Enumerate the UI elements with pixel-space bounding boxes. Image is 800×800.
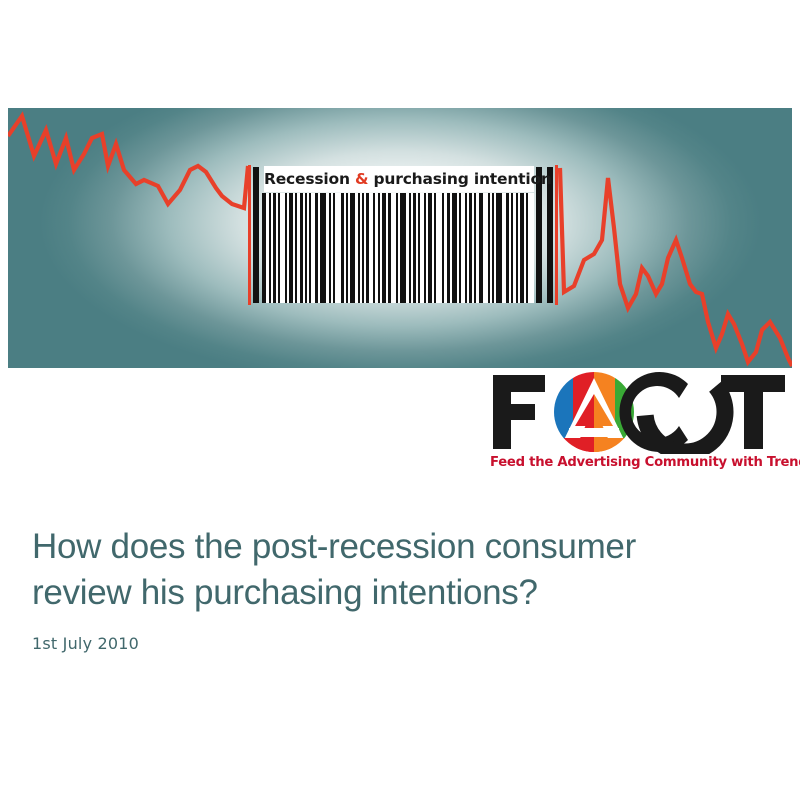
barcode-bar: [341, 193, 344, 303]
barcode-bar: [350, 193, 355, 303]
barcode-graphic: Recession & purchasing intention: [248, 165, 560, 305]
barcode-bar: [285, 193, 287, 303]
barcode-left-red-guard: [248, 165, 251, 305]
barcode-bar: [333, 193, 335, 303]
barcode-bar: [479, 193, 483, 303]
logo-letter-f: [493, 375, 545, 449]
barcode-bar: [418, 193, 420, 303]
page-title-line-2: review his purchasing intentions?: [32, 573, 538, 612]
page-title: How does the post-recession consumerrevi…: [32, 524, 762, 616]
barcode-title-prefix: Recession: [264, 170, 355, 188]
barcode-bar: [442, 193, 444, 303]
barcode-bar: [492, 193, 494, 303]
barcode-bar: [373, 193, 375, 303]
barcode-bar: [526, 193, 528, 303]
logo-tagline: Feed the Advertising Community with Tren…: [490, 455, 790, 470]
barcode-bar: [511, 193, 513, 303]
barcode-bar: [465, 193, 467, 303]
barcode-title-ampersand: &: [355, 170, 368, 188]
barcode-right-red-guard: [555, 165, 558, 305]
barcode-title-suffix: purchasing intention: [368, 170, 551, 188]
barcode-bar: [262, 193, 266, 303]
page-title-line-1: How does the post-recession consumer: [32, 527, 636, 566]
fact-wordmark: [489, 370, 789, 454]
barcode-bar: [447, 193, 450, 303]
barcode-bar: [516, 193, 518, 303]
slide-canvas: { "slide": { "background_color": "#fffff…: [0, 0, 800, 800]
barcode-bar: [506, 193, 509, 303]
barcode-bar: [362, 193, 364, 303]
title-block: How does the post-recession consumerrevi…: [32, 524, 762, 654]
barcode-bar: [424, 193, 426, 303]
barcode-bar: [315, 193, 318, 303]
barcode-bar: [300, 193, 303, 303]
slide-date: 1st July 2010: [32, 634, 762, 654]
barcode-bar: [428, 193, 432, 303]
barcode-bar: [358, 193, 360, 303]
barcode-bar: [305, 193, 307, 303]
barcode-bar-pattern: [262, 193, 534, 303]
barcode-bar: [496, 193, 502, 303]
barcode-bar: [434, 193, 436, 303]
barcode-bar: [413, 193, 416, 303]
barcode-bar: [278, 193, 280, 303]
barcode-title-text: Recession & purchasing intention: [264, 166, 534, 192]
barcode-bar: [409, 193, 411, 303]
barcode-bar: [346, 193, 348, 303]
barcode-guard-bar-left: [253, 167, 259, 303]
barcode-bar: [520, 193, 524, 303]
barcode-bar: [469, 193, 472, 303]
barcode-bar: [388, 193, 391, 303]
fact-logo: Feed the Advertising Community with Tren…: [489, 370, 789, 480]
recession-banner: Recession & purchasing intention: [8, 108, 792, 368]
barcode-bar: [320, 193, 326, 303]
barcode-bar: [474, 193, 476, 303]
barcode-bar: [459, 193, 461, 303]
barcode-bar: [488, 193, 490, 303]
barcode-bar: [400, 193, 406, 303]
barcode-bar: [309, 193, 311, 303]
barcode-bar: [273, 193, 276, 303]
barcode-bar: [452, 193, 457, 303]
barcode-bar: [382, 193, 386, 303]
barcode-bar: [269, 193, 271, 303]
barcode-bar: [396, 193, 398, 303]
barcode-bar: [289, 193, 293, 303]
barcode-bar: [378, 193, 380, 303]
barcode-bar: [366, 193, 369, 303]
barcode-bar: [329, 193, 331, 303]
barcode-bar: [295, 193, 297, 303]
